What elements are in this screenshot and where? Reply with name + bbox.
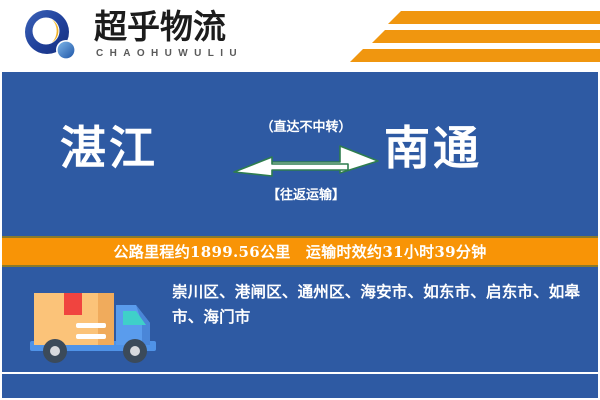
circle-crescent-logo-icon xyxy=(22,8,82,64)
destination-city-label: 南通 xyxy=(384,120,482,176)
route-note-direct: （直达不中转） xyxy=(230,116,382,135)
logistics-route-banner: 超乎物流 CHAOHUWULIU 湛江 （直达不中转） xyxy=(0,0,600,400)
origin-city-label: 湛江 xyxy=(60,120,158,176)
route-section: 湛江 （直达不中转） 【往返运输】 南通 xyxy=(2,72,598,236)
bottom-divider xyxy=(2,372,598,374)
double-direction-arrow-icon xyxy=(230,142,382,178)
header-stripe-3 xyxy=(350,49,600,62)
main-blue-panel: 湛江 （直达不中转） 【往返运输】 南通 公路里程约1899.56公里 运输时效… xyxy=(2,72,598,398)
coverage-areas-text: 崇川区、港闸区、通州区、海安市、如东市、启东市、如皋市、海门市 xyxy=(172,279,586,329)
distance-duration-text: 公路里程约1899.56公里 运输时效约31小时39分钟 xyxy=(114,241,487,262)
brand-title: 超乎物流 xyxy=(94,8,274,46)
brand-text-block: 超乎物流 CHAOHUWULIU xyxy=(94,8,274,64)
distance-duration-bar: 公路里程约1899.56公里 运输时效约31小时39分钟 xyxy=(2,236,598,267)
route-middle-group: （直达不中转） 【往返运输】 xyxy=(230,116,382,232)
header-stripe-2 xyxy=(372,30,600,43)
header-stripe-1 xyxy=(388,11,600,24)
brand-subtitle: CHAOHUWULIU xyxy=(96,47,274,61)
route-note-roundtrip: 【往返运输】 xyxy=(230,184,382,203)
delivery-truck-icon xyxy=(24,273,164,369)
banner-header: 超乎物流 CHAOHUWULIU xyxy=(0,0,600,72)
coverage-section: 崇川区、港闸区、通州区、海安市、如东市、启东市、如皋市、海门市 xyxy=(2,267,598,372)
